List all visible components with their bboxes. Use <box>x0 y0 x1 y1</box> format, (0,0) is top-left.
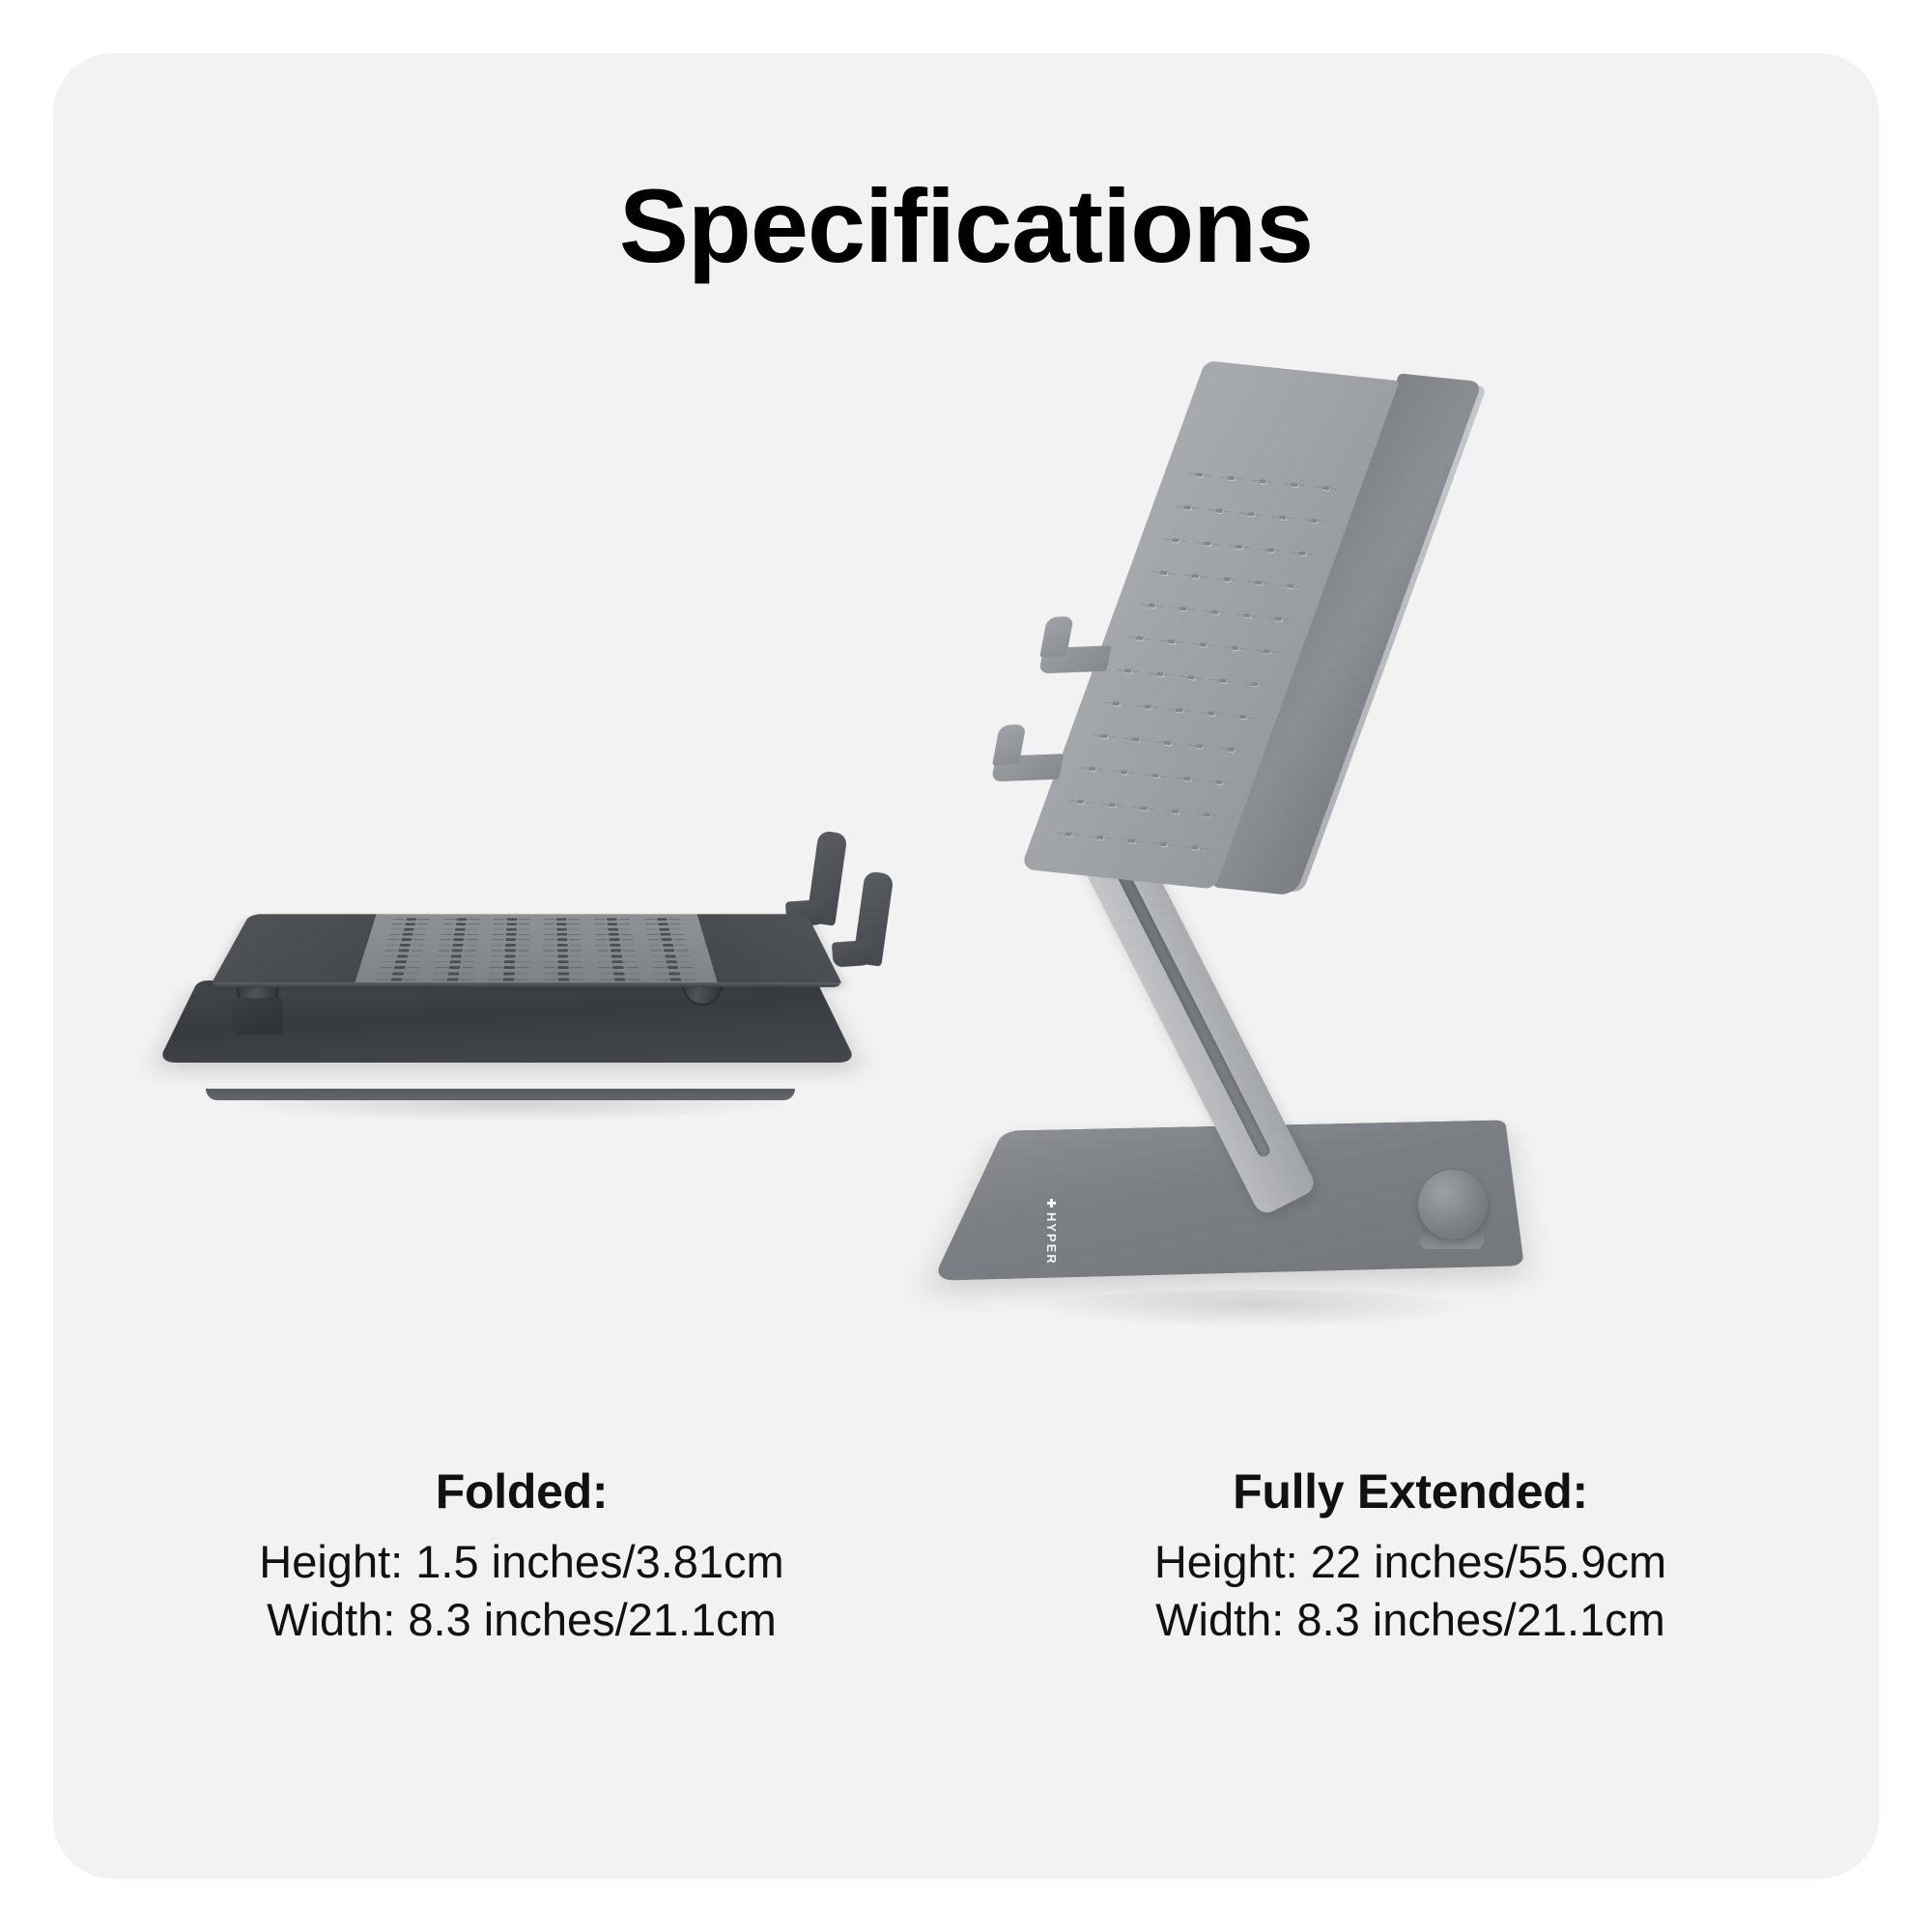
vent-mark-icon <box>666 960 677 963</box>
caption-width-folded: Width: 8.3 inches/21.1cm <box>106 1591 937 1649</box>
vent-mark-icon <box>1191 845 1200 850</box>
vent-mark-icon <box>1210 610 1219 614</box>
caption-fully-extended: Fully Extended: Height: 22 inches/55.9cm… <box>995 1463 1826 1649</box>
vent-mark-icon <box>659 928 669 931</box>
vent-mark-icon <box>611 950 622 952</box>
vent-mark-icon <box>1286 583 1294 588</box>
vent-mark-icon <box>1127 838 1136 843</box>
vent-mark-icon <box>1231 646 1239 651</box>
plus-mark-icon <box>1047 1199 1056 1207</box>
vent-mark-icon <box>1235 545 1243 550</box>
vent-mark-icon <box>667 966 678 969</box>
vent-mark-icon <box>505 933 516 936</box>
vent-column <box>637 918 704 980</box>
vent-mark-icon <box>506 918 517 920</box>
vent-mark-icon <box>557 944 568 947</box>
variant-column-folded <box>106 343 937 1386</box>
vent-mark-icon <box>1258 479 1266 484</box>
vent-mark-icon <box>557 938 568 941</box>
vent-mark-icon <box>401 938 412 941</box>
vent-mark-icon <box>1088 767 1096 772</box>
caption-width-fully-extended: Width: 8.3 inches/21.1cm <box>995 1591 1826 1649</box>
vent-mark-icon <box>1123 668 1132 673</box>
vent-mark-icon <box>455 928 466 931</box>
vent-column <box>536 918 592 980</box>
vent-mark-icon <box>661 938 672 941</box>
vent-mark-icon <box>1155 672 1164 677</box>
vent-mark-icon <box>1143 704 1151 709</box>
vent-mark-icon <box>608 928 618 931</box>
vent-mark-icon <box>668 972 680 975</box>
vent-mark-icon <box>1107 803 1116 808</box>
vent-mark-icon <box>1135 636 1144 640</box>
caption-folded: Folded: Height: 1.5 inches/3.81cm Width:… <box>106 1463 937 1649</box>
vent-mark-icon <box>1175 708 1183 713</box>
hyper-brand-logo: HYPER <box>1044 1199 1059 1265</box>
extended-display-plate-assembly <box>1020 360 1492 898</box>
hyper-logo-text: HYPER <box>1044 1212 1059 1265</box>
vent-mark-icon <box>1278 515 1287 520</box>
vent-mark-icon <box>398 950 410 952</box>
vent-mark-icon <box>1095 836 1104 840</box>
vent-mark-icon <box>610 944 620 947</box>
vent-mark-icon <box>609 933 619 936</box>
vent-mark-icon <box>1227 476 1236 481</box>
vent-mark-icon <box>660 933 670 936</box>
folded-vent-grid <box>369 918 704 980</box>
vent-mark-icon <box>505 944 516 947</box>
caption-title-folded: Folded: <box>106 1463 937 1520</box>
vent-mark-icon <box>658 923 668 925</box>
vent-mark-icon <box>1148 604 1156 609</box>
vent-mark-icon <box>663 950 674 952</box>
vent-mark-icon <box>556 928 567 931</box>
vent-mark-icon <box>656 918 667 920</box>
vent-mark-icon <box>558 979 570 981</box>
vent-mark-icon <box>1076 799 1085 804</box>
vent-mark-icon <box>613 972 625 975</box>
vent-mark-icon <box>1171 810 1179 814</box>
vent-mark-icon <box>662 944 673 947</box>
extended-hook-lip-upper <box>1038 645 1111 673</box>
vent-mark-icon <box>557 960 569 963</box>
vent-mark-icon <box>1112 701 1121 706</box>
vent-mark-icon <box>450 954 462 957</box>
vent-mark-icon <box>607 918 617 920</box>
vent-mark-icon <box>1120 770 1128 775</box>
vent-mark-icon <box>1163 741 1172 746</box>
vent-mark-icon <box>449 960 461 963</box>
vent-mark-icon <box>1171 538 1179 543</box>
vent-mark-icon <box>1139 806 1148 810</box>
vent-mark-icon <box>1250 682 1259 687</box>
specifications-card: Specifications <box>53 53 1879 1879</box>
vent-mark-icon <box>1191 574 1200 579</box>
vent-mark-icon <box>506 923 517 925</box>
vent-mark-icon <box>665 954 676 957</box>
folded-hinge-block <box>233 998 283 1035</box>
vent-mark-icon <box>403 933 414 936</box>
vent-mark-icon <box>609 938 619 941</box>
vent-mark-icon <box>1266 548 1275 553</box>
vent-mark-icon <box>1151 774 1160 779</box>
vent-mark-icon <box>557 954 568 957</box>
folded-base-front-edge <box>206 1089 795 1100</box>
vent-mark-icon <box>1203 541 1211 546</box>
extended-lower-hinge-icon <box>1418 1170 1488 1239</box>
vent-mark-icon <box>1064 832 1072 837</box>
vent-mark-icon <box>556 923 567 925</box>
vent-mark-icon <box>1199 642 1207 647</box>
folded-top-plate <box>211 914 842 984</box>
vent-mark-icon <box>1214 508 1223 513</box>
vent-mark-icon <box>1159 842 1168 847</box>
vent-mark-icon <box>1290 483 1298 488</box>
vent-mark-icon <box>446 979 458 981</box>
extended-hook-lip-lower <box>991 753 1064 781</box>
vent-mark-icon <box>558 966 570 969</box>
vent-mark-icon <box>395 960 407 963</box>
vent-mark-icon <box>504 954 515 957</box>
vent-mark-icon <box>1242 613 1251 618</box>
vent-mark-icon <box>448 966 460 969</box>
extended-contact-shadow <box>1034 1290 1478 1328</box>
vent-mark-icon <box>392 972 404 975</box>
page-title: Specifications <box>53 169 1879 284</box>
vent-mark-icon <box>505 938 516 941</box>
folded-stand-illustration <box>198 826 874 1145</box>
vent-mark-icon <box>506 928 517 931</box>
vent-mark-icon <box>1218 679 1227 684</box>
vent-mark-icon <box>394 966 406 969</box>
folded-left-wing <box>211 914 377 984</box>
vent-mark-icon <box>1297 552 1306 556</box>
folded-hook-lip-lower <box>852 870 894 966</box>
folded-top-plate-assembly <box>208 914 874 990</box>
vent-mark-icon <box>1214 780 1223 784</box>
vent-mark-icon <box>607 923 617 925</box>
vent-mark-icon <box>397 954 409 957</box>
vent-mark-icon <box>1099 734 1108 739</box>
vent-mark-icon <box>613 979 625 981</box>
folded-hook-lip-upper <box>806 830 847 925</box>
extended-stand-illustration: HYPER <box>1005 353 1835 1377</box>
vent-mark-icon <box>669 979 681 981</box>
vent-mark-icon <box>1246 512 1255 517</box>
vent-mark-icon <box>1186 675 1195 680</box>
vent-mark-icon <box>1254 581 1263 585</box>
vent-mark-icon <box>556 918 567 920</box>
vent-mark-icon <box>1238 715 1247 720</box>
vent-mark-icon <box>447 972 459 975</box>
vent-mark-icon <box>504 950 515 952</box>
vent-mark-icon <box>611 954 622 957</box>
caption-height-fully-extended: Height: 22 inches/55.9cm <box>995 1533 1826 1591</box>
vent-mark-icon <box>1182 505 1191 510</box>
laptop-stand-folded-photo <box>106 343 937 1386</box>
laptop-stand-extended-photo: HYPER <box>995 343 1826 1386</box>
vent-mark-icon <box>1262 649 1270 654</box>
vent-mark-icon <box>503 966 515 969</box>
vent-mark-icon <box>400 944 412 947</box>
vent-mark-icon <box>1274 616 1283 621</box>
vent-mark-icon <box>612 966 624 969</box>
vent-mark-icon <box>611 960 623 963</box>
vent-mark-icon <box>1207 711 1215 716</box>
vent-mark-icon <box>453 938 464 941</box>
vent-mark-icon <box>452 944 464 947</box>
vent-column <box>480 918 536 980</box>
folded-right-wing <box>697 914 843 984</box>
vent-mark-icon <box>1195 744 1204 749</box>
vent-mark-icon <box>454 933 465 936</box>
vent-mark-icon <box>1182 777 1191 781</box>
vent-mark-icon <box>407 918 417 920</box>
vent-mark-icon <box>1195 472 1204 477</box>
vent-mark-icon <box>1203 812 1211 817</box>
variant-column-fully-extended: HYPER <box>995 343 1826 1386</box>
vent-mark-icon <box>503 960 515 963</box>
vent-mark-icon <box>1159 571 1168 576</box>
folded-top-plate-edge <box>212 982 842 987</box>
vent-mark-icon <box>451 950 463 952</box>
vent-mark-icon <box>557 950 568 952</box>
vent-mark-icon <box>1222 578 1231 582</box>
folded-vent-panel <box>355 914 719 984</box>
vent-mark-icon <box>404 928 414 931</box>
caption-title-fully-extended: Fully Extended: <box>995 1463 1826 1520</box>
vent-mark-icon <box>558 972 570 975</box>
vent-mark-icon <box>1131 737 1140 742</box>
vent-mark-icon <box>502 979 514 981</box>
vent-mark-icon <box>1179 607 1187 611</box>
vent-mark-icon <box>1226 748 1235 753</box>
vent-mark-icon <box>1321 486 1330 491</box>
vent-mark-icon <box>557 933 568 936</box>
vent-mark-icon <box>1167 639 1176 644</box>
vent-mark-icon <box>456 918 467 920</box>
vent-mark-icon <box>503 972 515 975</box>
caption-height-folded: Height: 1.5 inches/3.81cm <box>106 1533 937 1591</box>
vent-mark-icon <box>405 923 415 925</box>
vent-mark-icon <box>1310 519 1319 524</box>
vent-mark-icon <box>391 979 404 981</box>
vent-mark-icon <box>456 923 467 925</box>
